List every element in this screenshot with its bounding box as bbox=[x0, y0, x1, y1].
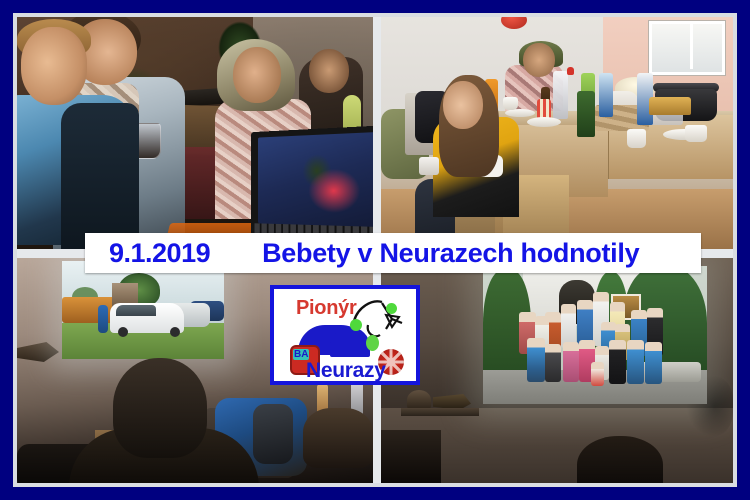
bottle-red-cap bbox=[567, 67, 574, 75]
girl-face bbox=[443, 81, 483, 129]
logo-top-word: Pionýr bbox=[296, 297, 356, 320]
projection-screen-car bbox=[62, 261, 224, 359]
plate-single bbox=[505, 109, 535, 117]
plate-stack bbox=[527, 117, 561, 127]
projection-screen-group bbox=[483, 266, 707, 404]
window bbox=[649, 21, 725, 75]
logo-bottom-word: Neurazy bbox=[306, 359, 386, 381]
photo-bottom-right bbox=[381, 258, 733, 483]
group-person bbox=[645, 342, 662, 384]
window-mullion bbox=[690, 21, 693, 69]
photo-top-left bbox=[17, 17, 373, 249]
logo-green-dot bbox=[366, 335, 379, 351]
bottle-blue-1 bbox=[599, 73, 613, 117]
group-person bbox=[545, 344, 561, 382]
banner-title: Bebety v Neurazech hodnotily bbox=[262, 238, 639, 269]
seated-viewers-right bbox=[303, 408, 373, 468]
bottle-clear-1 bbox=[553, 71, 568, 119]
logo-green-dot bbox=[386, 303, 397, 314]
dark-left-object bbox=[381, 430, 441, 483]
pionyr-neurazy-logo: BA Pionýr Neurazy bbox=[270, 285, 420, 385]
red-balloon bbox=[501, 17, 527, 29]
bottle-dark-green bbox=[577, 91, 595, 137]
projected-person bbox=[98, 305, 108, 333]
photo-top-right-scene bbox=[381, 17, 733, 249]
mug-counter-right bbox=[685, 125, 707, 142]
boy-jacket bbox=[61, 103, 139, 249]
group-person bbox=[563, 342, 579, 382]
photo-top-left-scene bbox=[17, 17, 373, 249]
mug-counter-left bbox=[503, 97, 518, 110]
cook-head bbox=[523, 43, 555, 77]
wall-shelf bbox=[401, 408, 479, 416]
photo-bottom-right-scene bbox=[381, 258, 733, 483]
woman-patterned-sweater-head bbox=[233, 47, 281, 103]
group-person bbox=[591, 362, 604, 386]
mug-counter-center bbox=[627, 129, 646, 148]
viewer-head-silhouette bbox=[577, 436, 663, 483]
food-tray bbox=[649, 97, 691, 115]
group-person bbox=[627, 340, 644, 384]
projected-car-wheel-front bbox=[118, 327, 128, 337]
boy-head bbox=[21, 27, 87, 105]
projected-car-wheel-rear bbox=[170, 327, 180, 337]
background-person-head bbox=[309, 49, 349, 93]
laptop bbox=[251, 125, 373, 249]
girl-mug bbox=[419, 157, 439, 175]
group-person bbox=[609, 340, 626, 384]
wall-hook bbox=[17, 342, 59, 362]
collage-canvas: 9.1.2019 Bebety v Neurazech hodnotily BA… bbox=[0, 0, 750, 500]
viewer-head-silhouette bbox=[113, 358, 207, 458]
helmet-on-shelf bbox=[407, 390, 431, 410]
group-person bbox=[527, 338, 545, 382]
laptop-screen bbox=[258, 132, 373, 227]
logo-artwork: BA Pionýr Neurazy bbox=[274, 289, 416, 381]
photo-top-right bbox=[381, 17, 733, 249]
backpack-grey bbox=[253, 404, 293, 464]
logo-green-dot bbox=[350, 319, 362, 331]
banner-date: 9.1.2019 bbox=[109, 238, 210, 269]
projected-car-window bbox=[116, 305, 156, 316]
title-banner: 9.1.2019 Bebety v Neurazech hodnotily bbox=[85, 233, 701, 273]
